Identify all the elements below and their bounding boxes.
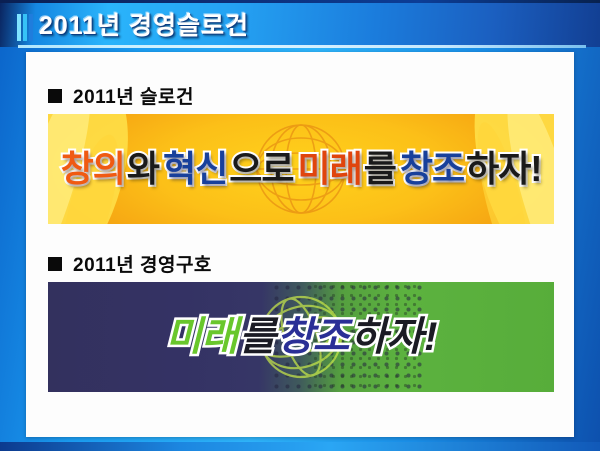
slogan-part-7: 창조	[399, 147, 465, 191]
section-heading-motto-label: 2011년 경영구호	[73, 250, 212, 277]
motto-part-3: 창조	[276, 313, 350, 361]
slogan-banner: 창의와 혁신으로 미래를 창조하자!	[48, 114, 554, 224]
square-bullet-icon	[48, 257, 62, 271]
slogan-part-8: 하자!	[465, 147, 542, 191]
header-underline	[18, 45, 586, 48]
slide-header: 2011년 경영슬로건	[0, 3, 600, 47]
square-bullet-icon	[48, 89, 62, 103]
motto-banner-text: 미래를창조하자!	[48, 313, 554, 361]
section-heading-motto: 2011년 경영구호	[48, 250, 212, 277]
slogan-part-5: 미래	[297, 147, 363, 191]
slogan-part-2: 와	[126, 147, 160, 191]
motto-part-4: 하자	[350, 313, 424, 361]
motto-banner: 미래를창조하자!	[48, 282, 554, 392]
motto-part-2: 를	[238, 313, 276, 361]
slide: 2011년 경영슬로건 2011년 슬로건	[0, 0, 600, 451]
content-panel: 2011년 슬로건	[26, 52, 574, 437]
slide-bottom-edge	[0, 442, 600, 451]
slogan-part-1: 창의	[60, 147, 126, 191]
slogan-part-3: 혁신	[162, 147, 228, 191]
section-heading-slogan: 2011년 슬로건	[48, 82, 194, 109]
page-title: 2011년 경영슬로건	[39, 10, 249, 43]
slogan-part-4: 으로	[228, 147, 294, 191]
slogan-banner-text: 창의와 혁신으로 미래를 창조하자!	[48, 147, 554, 191]
header-accent-bars-icon	[17, 14, 33, 41]
motto-part-5: !	[423, 313, 437, 361]
section-heading-slogan-label: 2011년 슬로건	[73, 82, 194, 109]
motto-part-1: 미래	[165, 313, 239, 361]
slogan-part-6: 를	[363, 147, 397, 191]
